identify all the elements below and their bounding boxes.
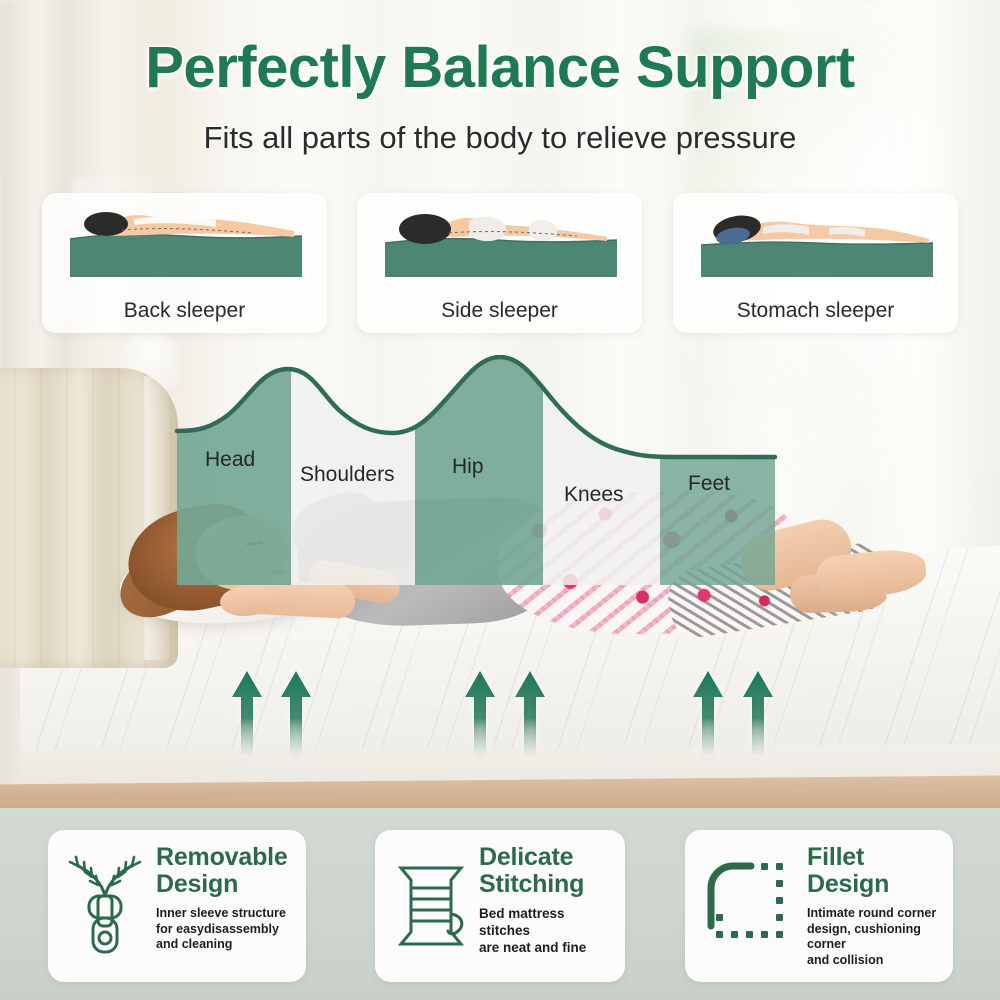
feature-title: Delicate Stitching bbox=[479, 844, 617, 898]
product-infographic: Head Shoulders Hip Knees Feet bbox=[0, 0, 1000, 1000]
page-subtitle: Fits all parts of the body to relieve pr… bbox=[0, 120, 1000, 156]
zone-band-feet bbox=[660, 355, 775, 585]
page-title: Perfectly Balance Support bbox=[0, 34, 1000, 101]
feature-card-delicate-stitching[interactable]: Delicate Stitching Bed mattress stitches… bbox=[375, 830, 625, 982]
feature-desc-line-1: Bed mattress stitches bbox=[479, 906, 617, 940]
sleeper-card-label: Side sleeper bbox=[357, 299, 642, 323]
rounded-corner-icon bbox=[699, 852, 785, 960]
support-arrows bbox=[0, 655, 1000, 765]
sleeper-card-label: Back sleeper bbox=[42, 299, 327, 323]
up-arrow-icon bbox=[693, 671, 723, 757]
feature-title: Removable Design bbox=[156, 844, 298, 898]
feature-desc-line-3: and collision bbox=[807, 953, 945, 969]
zone-label-feet: Feet bbox=[688, 472, 730, 496]
feature-desc-line-2: for easydisassembly bbox=[156, 922, 298, 938]
zone-label-knees: Knees bbox=[564, 483, 624, 507]
feature-card-fillet-design[interactable]: Fillet Design Intimate round corner desi… bbox=[685, 830, 953, 982]
feature-desc-line-2: are neat and fine bbox=[479, 940, 617, 957]
feature-title-line-1: Removable bbox=[156, 844, 298, 871]
thread-spool-icon bbox=[393, 854, 469, 958]
feature-title-line-2: Design bbox=[807, 871, 945, 898]
up-arrow-icon bbox=[743, 671, 773, 757]
feature-title-line-1: Fillet bbox=[807, 844, 945, 871]
sleeper-card-label: Stomach sleeper bbox=[673, 299, 958, 323]
zipper-icon bbox=[62, 852, 148, 960]
feature-title-line-2: Design bbox=[156, 871, 298, 898]
up-arrow-icon bbox=[465, 671, 495, 757]
zone-label-head: Head bbox=[205, 448, 255, 472]
feature-card-text: Delicate Stitching Bed mattress stitches… bbox=[479, 844, 617, 957]
feature-description: Bed mattress stitches are neat and fine bbox=[479, 906, 617, 957]
feature-bar: Removable Design Inner sleeve structure … bbox=[0, 808, 1000, 1000]
zone-band-knees bbox=[543, 355, 660, 585]
feature-card-text: Fillet Design Intimate round corner desi… bbox=[807, 844, 945, 969]
feature-title-line-2: Stitching bbox=[479, 871, 617, 898]
zone-wave-svg bbox=[0, 355, 1000, 585]
feature-title: Fillet Design bbox=[807, 844, 945, 898]
sleeper-card-side[interactable]: Side sleeper bbox=[357, 193, 642, 333]
feature-desc-line-3: and cleaning bbox=[156, 937, 298, 953]
up-arrow-icon bbox=[515, 671, 545, 757]
feature-desc-line-1: Inner sleeve structure bbox=[156, 906, 298, 922]
side-sleeper-illustration bbox=[381, 203, 621, 285]
feature-title-line-1: Delicate bbox=[479, 844, 617, 871]
stomach-sleeper-illustration bbox=[697, 203, 937, 285]
arrows-svg bbox=[0, 655, 1000, 765]
zone-label-hip: Hip bbox=[452, 455, 484, 479]
feature-description: Intimate round corner design, cushioning… bbox=[807, 906, 945, 969]
zone-label-shoulders: Shoulders bbox=[300, 463, 395, 487]
feature-card-removable-design[interactable]: Removable Design Inner sleeve structure … bbox=[48, 830, 306, 982]
sleeper-card-back[interactable]: Back sleeper bbox=[42, 193, 327, 333]
back-sleeper-illustration bbox=[66, 203, 306, 285]
up-arrow-icon bbox=[232, 671, 262, 757]
sleeper-card-row: Back sleeper Side sleeper bbox=[0, 193, 1000, 338]
feature-desc-line-1: Intimate round corner bbox=[807, 906, 945, 922]
feature-desc-line-2: design, cushioning corner bbox=[807, 922, 945, 953]
sleeper-card-stomach[interactable]: Stomach sleeper bbox=[673, 193, 958, 333]
up-arrow-icon bbox=[281, 671, 311, 757]
feature-description: Inner sleeve structure for easydisassemb… bbox=[156, 906, 298, 953]
body-zone-diagram: Head Shoulders Hip Knees Feet bbox=[0, 355, 1000, 585]
feature-card-text: Removable Design Inner sleeve structure … bbox=[156, 844, 298, 953]
